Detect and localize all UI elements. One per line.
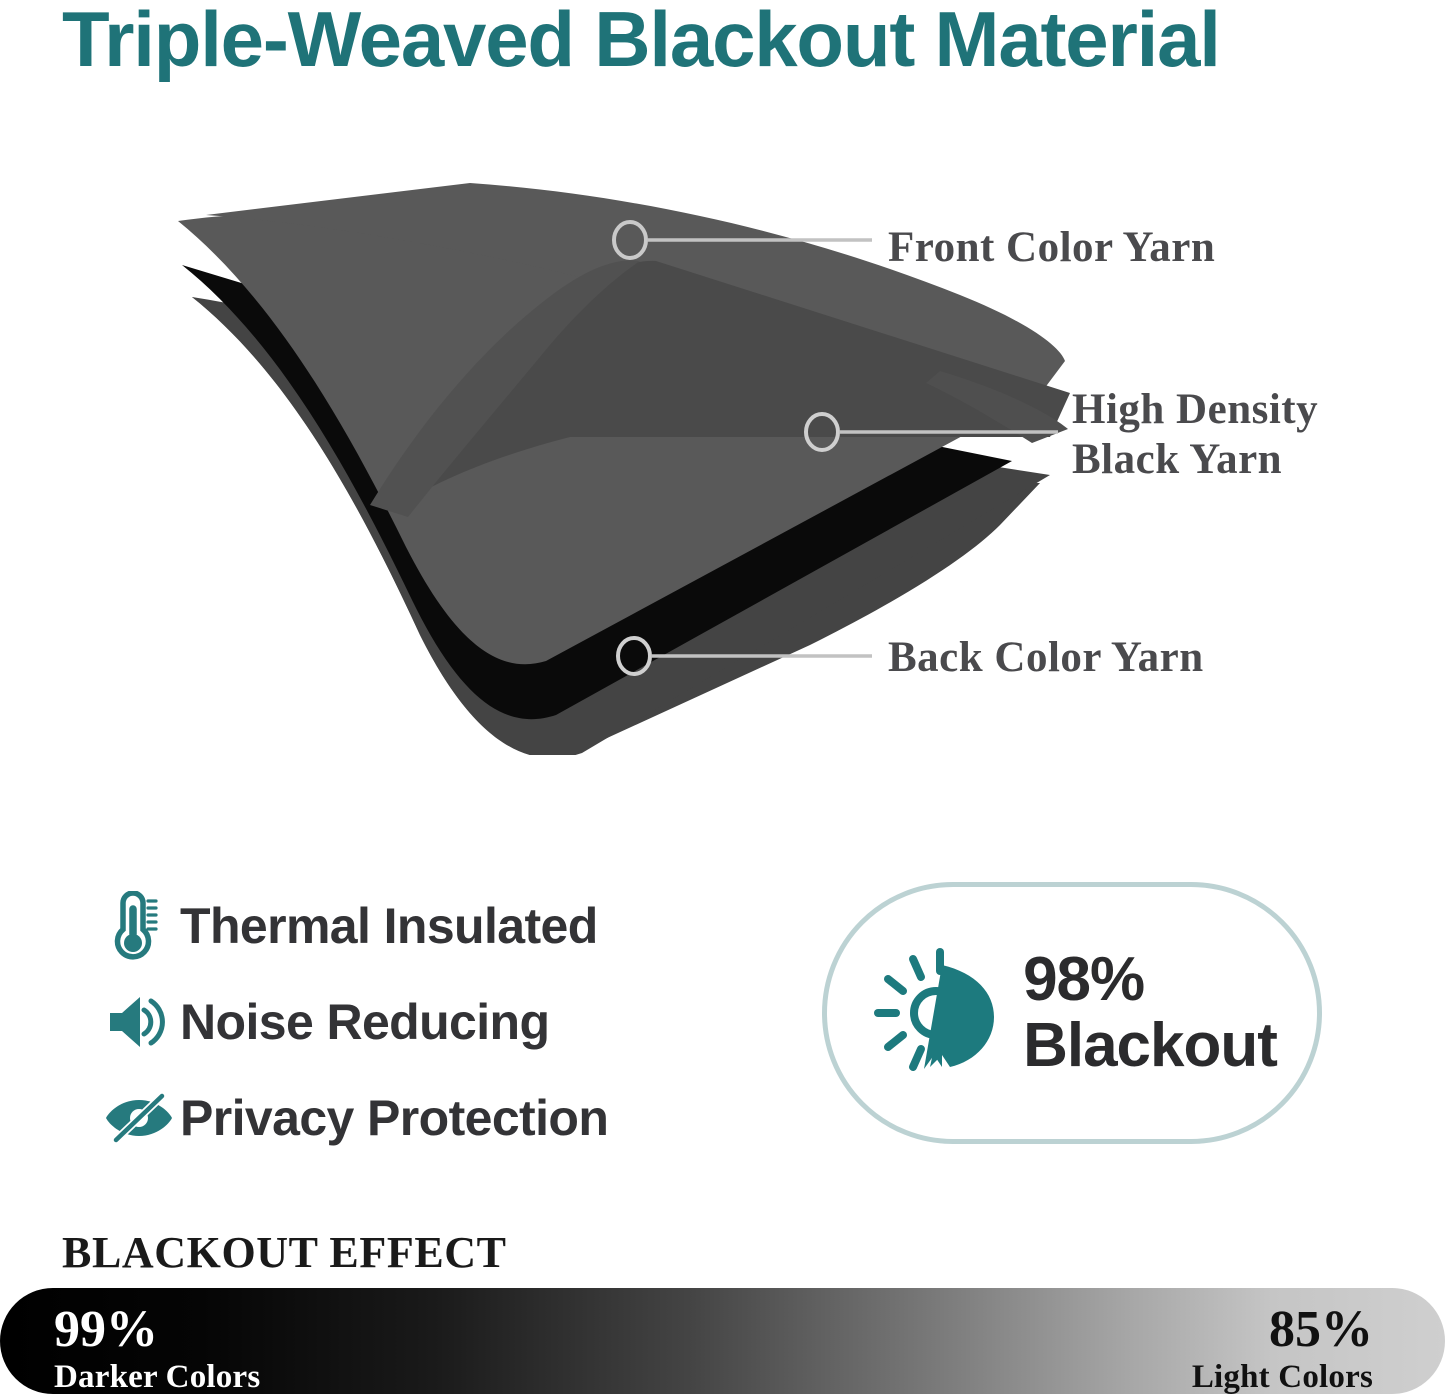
feature-label-noise-reducing: Noise Reducing xyxy=(180,994,549,1050)
feature-list: Thermal Insulated Noise Reducing xyxy=(104,878,744,1166)
callout-label-back-color-yarn: Back Color Yarn xyxy=(888,632,1204,684)
darker-colors-percent: 99% xyxy=(54,1302,260,1358)
eye-slash-icon xyxy=(104,1092,180,1144)
blackout-badge-text: 98% Blackout xyxy=(1023,947,1277,1079)
feature-row-thermal-insulated: Thermal Insulated xyxy=(104,878,744,974)
blackout-effect-gradient-bar: 99% Darker Colors 85% Light Colors xyxy=(0,1288,1445,1394)
gradient-bar-left-group: 99% Darker Colors xyxy=(54,1302,260,1394)
feature-row-noise-reducing: Noise Reducing xyxy=(104,974,744,1070)
callout-label-front-color-yarn: Front Color Yarn xyxy=(888,222,1215,274)
feature-label-privacy-protection: Privacy Protection xyxy=(180,1090,608,1146)
speaker-icon xyxy=(104,992,180,1052)
page-title: Triple-Weaved Blackout Material xyxy=(62,0,1402,82)
thermometer-icon xyxy=(104,891,180,961)
callout-hd-line2: Black Yarn xyxy=(1072,435,1318,485)
infographic-page: Triple-Weaved Blackout Material xyxy=(0,0,1445,1394)
light-colors-caption: Light Colors xyxy=(1192,1358,1373,1394)
blackout-percent: 98% xyxy=(1023,947,1144,1013)
feature-row-privacy-protection: Privacy Protection xyxy=(104,1070,744,1166)
sun-blocked-icon xyxy=(867,943,1017,1083)
light-colors-percent: 85% xyxy=(1192,1302,1373,1358)
blackout-effect-heading: BLACKOUT EFFECT xyxy=(62,1228,507,1278)
blackout-word: Blackout xyxy=(1023,1013,1277,1079)
darker-colors-caption: Darker Colors xyxy=(54,1358,260,1394)
callout-hd-line1: High Density xyxy=(1072,386,1318,433)
blackout-badge: 98% Blackout xyxy=(822,882,1322,1144)
feature-label-thermal-insulated: Thermal Insulated xyxy=(180,898,598,954)
callout-label-high-density-black-yarn: High Density Black Yarn xyxy=(1072,385,1318,485)
gradient-bar-right-group: 85% Light Colors xyxy=(1192,1302,1373,1394)
